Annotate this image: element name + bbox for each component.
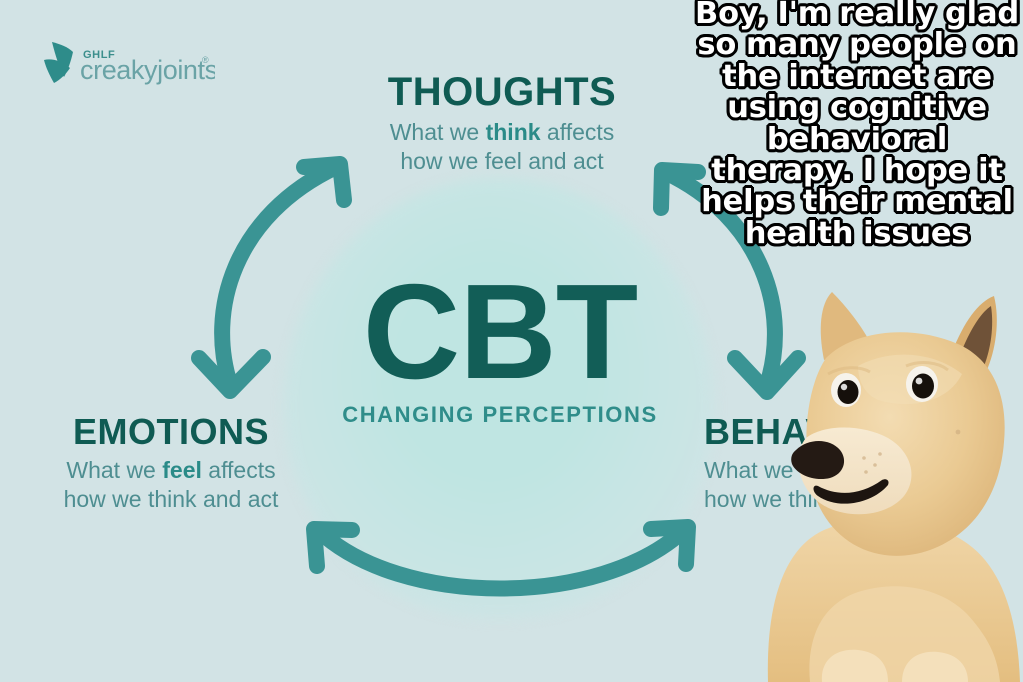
doge-eye-right: [906, 366, 938, 402]
caption-line: therapy. I hope it: [694, 155, 1020, 186]
cbt-acronym: CBT: [330, 268, 670, 396]
node-emotions-title: EMOTIONS: [46, 414, 296, 450]
creakyjoints-logo[interactable]: GHLF creakyjoints ®: [40, 36, 215, 88]
node-thoughts-subtitle: What we think affects how we feel and ac…: [374, 118, 630, 176]
doge-nose: [791, 441, 844, 479]
node-emotions-line1-post: affects: [202, 457, 276, 483]
node-thoughts-line1-bold: think: [486, 119, 541, 145]
arrow-emotions-thoughts: [199, 164, 344, 391]
node-thoughts-line1-pre: What we: [390, 119, 486, 145]
logo-brand-text: creakyjoints: [80, 55, 215, 85]
cbt-tagline: CHANGING PERCEPTIONS: [330, 402, 670, 428]
node-thoughts-line2: how we feel and act: [400, 148, 603, 174]
node-emotions-line1-pre: What we: [66, 457, 162, 483]
node-thoughts-title: THOUGHTS: [374, 72, 630, 112]
arrow-emotions-behaviors: [314, 527, 688, 589]
meme-caption: Boy, I'm really glad so many people on t…: [694, 0, 1020, 249]
caption-line: helps their mental: [694, 186, 1020, 217]
node-emotions-line2: how we think and act: [64, 486, 279, 512]
logo-swoosh-icon: [44, 42, 73, 83]
caption-line: Boy, I'm really glad: [694, 0, 1020, 29]
node-emotions: EMOTIONS What we feel affects how we thi…: [46, 414, 296, 514]
doge-eye-left: [831, 373, 861, 407]
node-emotions-subtitle: What we feel affects how we think and ac…: [46, 456, 296, 514]
node-thoughts-line1-post: affects: [541, 119, 615, 145]
doge-image: [762, 282, 1023, 682]
doge-head: [791, 332, 1004, 556]
meme-image: GHLF creakyjoints ® .arw { fill:none; st…: [0, 0, 1023, 682]
center-label: CBT CHANGING PERCEPTIONS: [330, 268, 670, 428]
caption-line: using cognitive: [694, 92, 1020, 123]
logo-trademark-text: ®: [202, 55, 209, 65]
caption-line: the internet are: [694, 61, 1020, 92]
node-thoughts: THOUGHTS What we think affects how we fe…: [374, 72, 630, 176]
caption-line: behavioral: [694, 124, 1020, 155]
node-emotions-line1-bold: feel: [162, 457, 202, 483]
caption-line: health issues: [694, 218, 1020, 249]
caption-line: so many people on: [694, 29, 1020, 60]
